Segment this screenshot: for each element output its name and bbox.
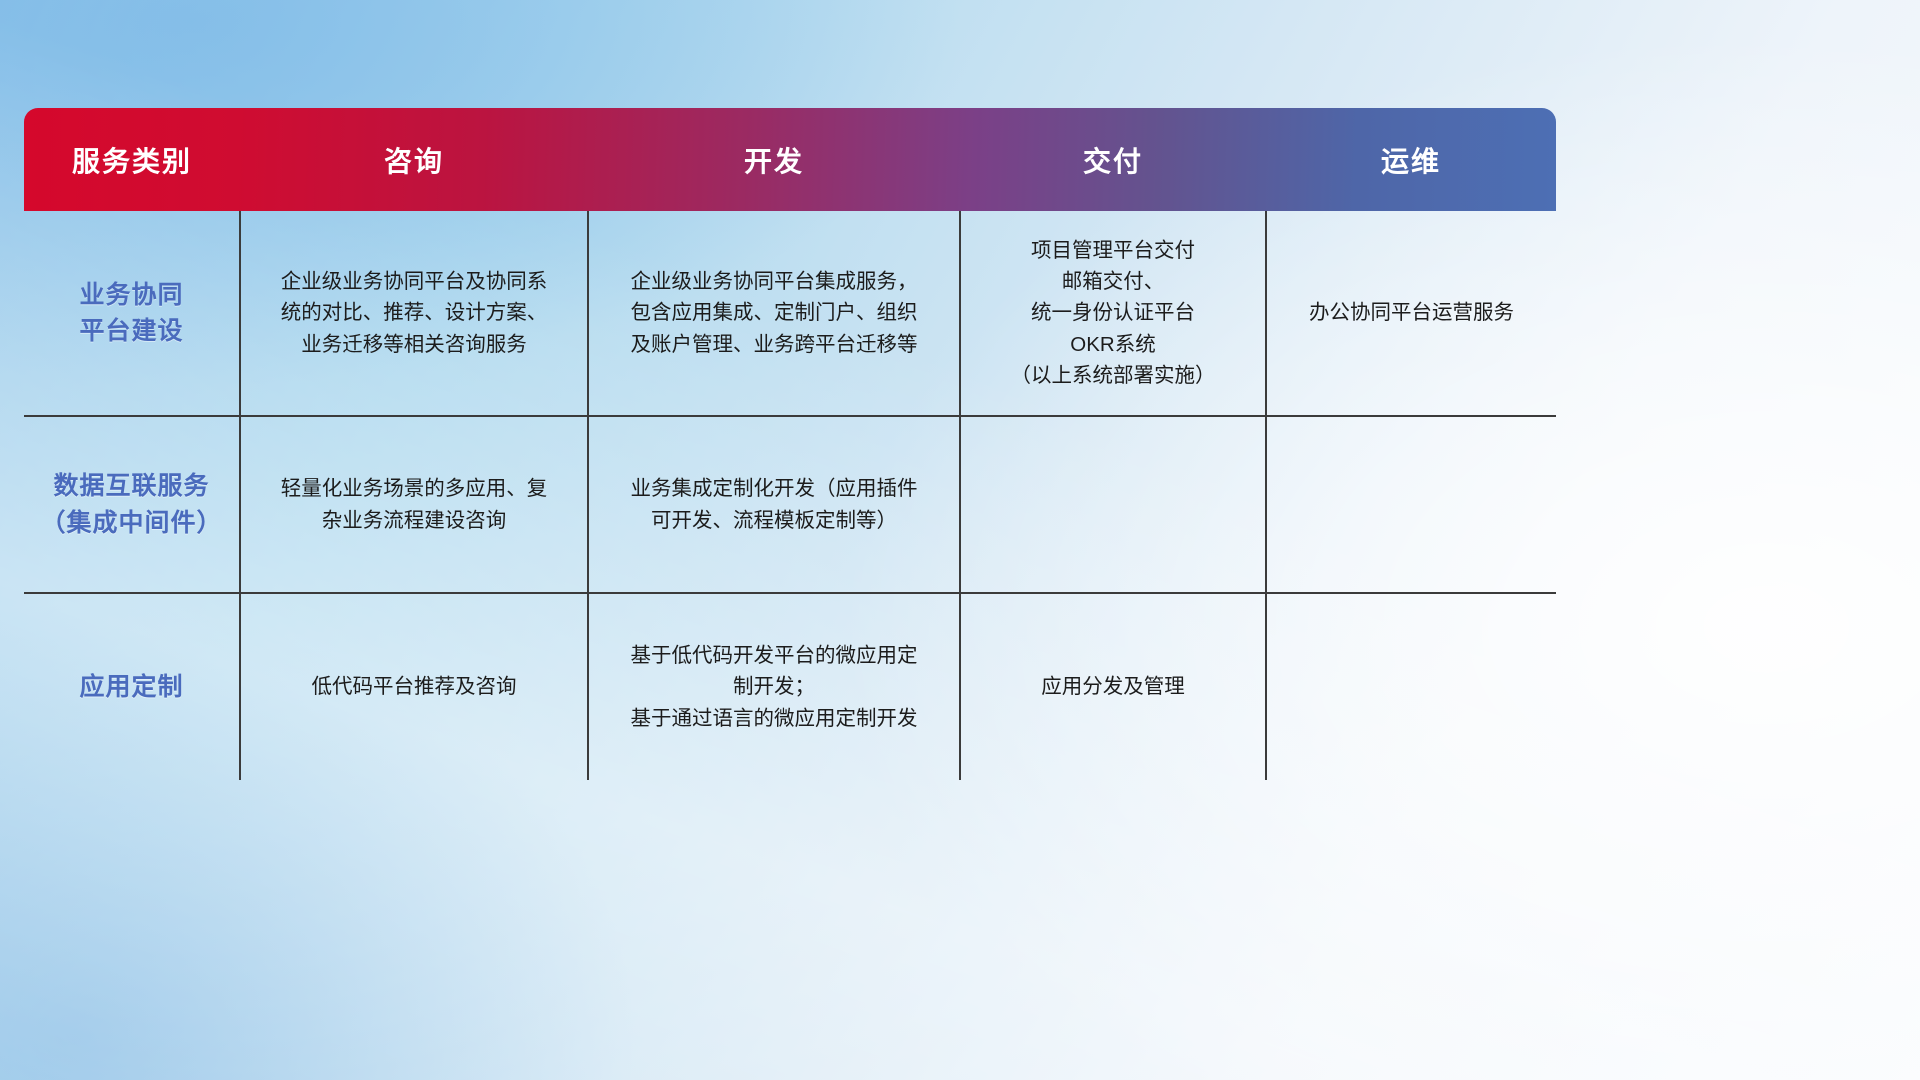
column-header-development: 开发 [588,108,960,211]
cell-delivery-text: 项目管理平台交付 邮箱交付、 统一身份认证平台 OKR系统 （以上系统部署实施） [975,235,1251,391]
cell-consulting: 轻量化业务场景的多应用、复 杂业务流程建设咨询 [240,416,588,593]
cell-delivery: 应用分发及管理 [960,593,1266,780]
column-header-delivery: 交付 [960,108,1266,211]
table-header-row: 服务类别 咨询 开发 交付 运维 [24,108,1556,211]
cell-development: 基于低代码开发平台的微应用定 制开发； 基于通过语言的微应用定制开发 [588,593,960,780]
row-category-label: 应用定制 [24,593,240,780]
cell-operations [1266,593,1556,780]
service-matrix-table: 服务类别 咨询 开发 交付 运维 业务协同 平台建设 [24,108,1556,780]
column-header-consulting-label: 咨询 [240,140,588,180]
cell-development-text: 基于低代码开发平台的微应用定 制开发； 基于通过语言的微应用定制开发 [603,640,945,733]
cell-development-text: 业务集成定制化开发（应用插件 可开发、流程模板定制等） [603,473,945,535]
service-matrix-table-container: 服务类别 咨询 开发 交付 运维 业务协同 平台建设 [24,108,1556,780]
row-category-text: 数据互联服务 （集成中间件） [38,468,225,541]
column-header-service-category: 服务类别 [24,108,240,211]
cell-delivery [960,416,1266,593]
table-body: 业务协同 平台建设 企业级业务协同平台及协同系 统的对比、推荐、设计方案、 业务… [24,211,1556,780]
column-header-consulting: 咨询 [240,108,588,211]
cell-consulting-text: 低代码平台推荐及咨询 [255,671,573,702]
column-header-operations-label: 运维 [1266,140,1556,180]
row-category-text: 应用定制 [38,669,225,705]
row-category-label: 数据互联服务 （集成中间件） [24,416,240,593]
column-header-development-label: 开发 [588,140,960,180]
cell-development: 企业级业务协同平台集成服务， 包含应用集成、定制门户、组织 及账户管理、业务跨平… [588,211,960,416]
cell-development: 业务集成定制化开发（应用插件 可开发、流程模板定制等） [588,416,960,593]
cell-operations [1266,416,1556,593]
cell-consulting: 低代码平台推荐及咨询 [240,593,588,780]
cell-delivery: 项目管理平台交付 邮箱交付、 统一身份认证平台 OKR系统 （以上系统部署实施） [960,211,1266,416]
table-row: 应用定制 低代码平台推荐及咨询 基于低代码开发平台的微应用定 制开发； 基于通过… [24,593,1556,780]
cell-consulting-text: 轻量化业务场景的多应用、复 杂业务流程建设咨询 [255,473,573,535]
table-row: 数据互联服务 （集成中间件） 轻量化业务场景的多应用、复 杂业务流程建设咨询 业… [24,416,1556,593]
row-category-label: 业务协同 平台建设 [24,211,240,416]
cell-development-text: 企业级业务协同平台集成服务， 包含应用集成、定制门户、组织 及账户管理、业务跨平… [603,266,945,359]
cell-operations: 办公协同平台运营服务 [1266,211,1556,416]
table-header: 服务类别 咨询 开发 交付 运维 [24,108,1556,211]
table-row: 业务协同 平台建设 企业级业务协同平台及协同系 统的对比、推荐、设计方案、 业务… [24,211,1556,416]
column-header-operations: 运维 [1266,108,1556,211]
cell-consulting: 企业级业务协同平台及协同系 统的对比、推荐、设计方案、 业务迁移等相关咨询服务 [240,211,588,416]
cell-delivery-text: 应用分发及管理 [975,671,1251,702]
cell-operations-text: 办公协同平台运营服务 [1281,297,1542,328]
cell-consulting-text: 企业级业务协同平台及协同系 统的对比、推荐、设计方案、 业务迁移等相关咨询服务 [255,266,573,359]
column-header-service-category-label: 服务类别 [24,140,240,180]
row-category-text: 业务协同 平台建设 [38,277,225,350]
column-header-delivery-label: 交付 [960,140,1266,180]
